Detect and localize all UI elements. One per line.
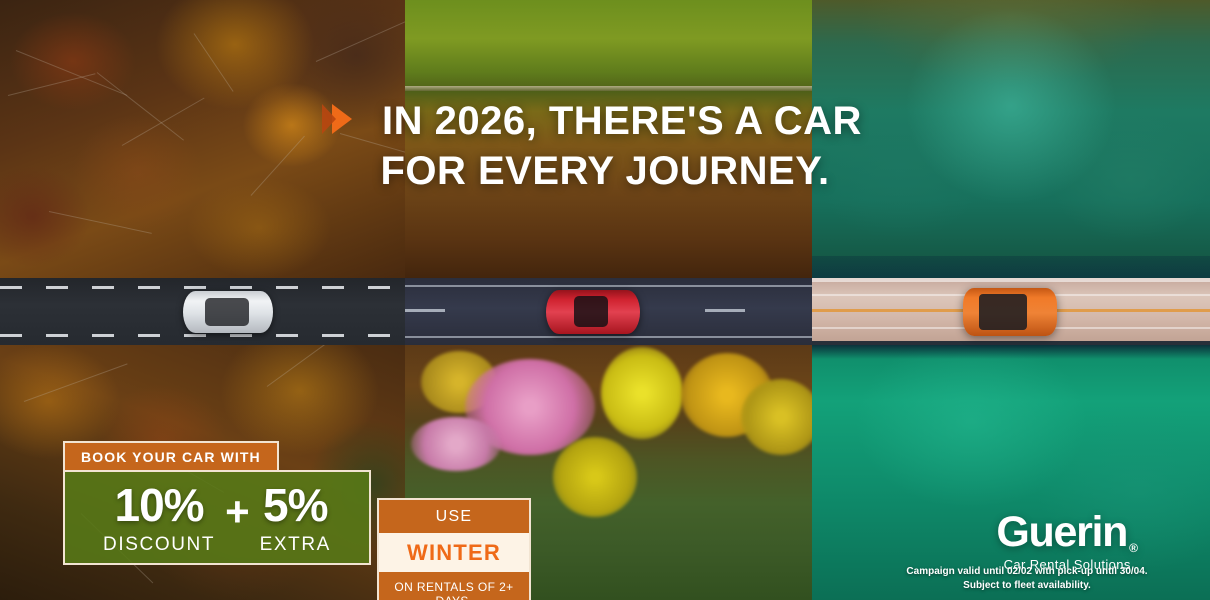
brand-name: Guerin®	[996, 511, 1138, 554]
brand-logo: Guerin® Car Rental Solutions	[996, 511, 1138, 572]
discount-panel: 10% DISCOUNT + 5% EXTRA	[63, 470, 371, 565]
plus-sign: +	[221, 488, 254, 536]
voucher-terms: ON RENTALS OF 2+ DAYS.	[379, 572, 529, 600]
brand-name-text: Guerin	[996, 508, 1127, 556]
discount-unit: 10% DISCOUNT	[103, 482, 215, 554]
promo-row: 10% DISCOUNT + 5% EXTRA USE WINTER ON RE…	[63, 470, 531, 600]
lagoon-water-top	[812, 0, 1210, 278]
promo-tab-label: BOOK YOUR CAR WITH	[63, 441, 279, 470]
promo-banner: IN 2026, THERE'S A CAR FOR EVERY JOURNEY…	[0, 0, 1210, 600]
autumn-canopy-top	[0, 0, 405, 278]
car-red	[546, 290, 640, 334]
promo-block: BOOK YOUR CAR WITH 10% DISCOUNT + 5% EXT…	[63, 441, 531, 600]
legal-disclaimer: Campaign valid until 02/02 with pick-up …	[882, 565, 1172, 592]
extra-label: EXTRA	[260, 535, 331, 554]
legal-line-2: Subject to fleet availability.	[882, 579, 1172, 593]
registered-mark-icon: ®	[1129, 541, 1138, 555]
voucher-block: USE WINTER ON RENTALS OF 2+ DAYS.	[377, 498, 531, 600]
car-orange	[963, 288, 1057, 336]
legal-line-1: Campaign valid until 02/02 with pick-up …	[882, 565, 1172, 579]
spring-fields-top	[405, 0, 812, 278]
voucher-use-label: USE	[379, 500, 529, 533]
car-glass	[979, 294, 1027, 330]
extra-value: 5%	[263, 482, 327, 528]
voucher-code: WINTER	[379, 533, 529, 572]
discount-value: 10%	[115, 482, 204, 528]
car-glass	[205, 298, 249, 326]
discount-label: DISCOUNT	[103, 535, 215, 554]
extra-unit: 5% EXTRA	[260, 482, 331, 554]
chevron-right-icon	[332, 104, 352, 134]
car-glass	[574, 296, 608, 327]
car-silver	[183, 291, 273, 333]
